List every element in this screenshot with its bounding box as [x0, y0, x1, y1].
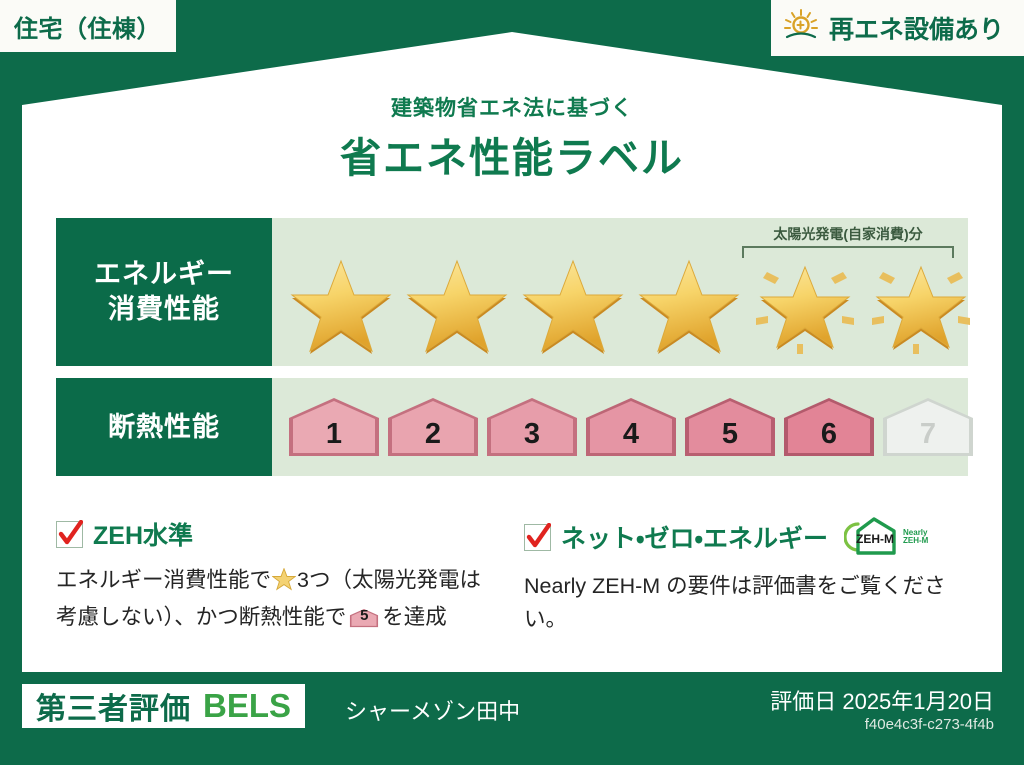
page-title: 省エネ性能ラベル — [0, 124, 1024, 184]
insulation-grade-5: 5 — [682, 396, 778, 458]
star-icon-solar — [866, 256, 976, 360]
property-name: シャーメゾン田中 — [345, 694, 520, 726]
insulation-grade-scale: 1 2 3 — [272, 378, 968, 476]
zeh-standard-title: ZEH水準 — [93, 516, 193, 552]
zeh-standard-header: ZEH水準 — [56, 516, 486, 552]
grade-number: 6 — [781, 418, 877, 451]
net-zero-energy-block: ネット・ゼロ・エネルギー ZEH-M Nearly ZEH-M Nearly Z… — [524, 516, 976, 635]
zeh-standard-block: ZEH水準 エネルギー消費性能で3つ（太陽光発電は考慮しない）、かつ断熱性能で5… — [56, 516, 486, 633]
grade-number: 4 — [583, 418, 679, 451]
insulation-grade-3: 3 — [484, 396, 580, 458]
solar-sun-icon — [781, 6, 821, 51]
evaluation-id: f40e4c3f-c273-4f4b — [865, 716, 994, 733]
star-rating — [272, 256, 968, 360]
grade-number: 2 — [385, 418, 481, 451]
insulation-grade-1: 1 — [286, 396, 382, 458]
dwelling-type-badge: 住宅（住棟） — [0, 0, 176, 52]
insulation-grade-2: 2 — [385, 396, 481, 458]
dwelling-type-label: 住宅（住棟） — [14, 9, 161, 44]
energy-rating-area: 太陽光発電(自家消費)分 — [272, 218, 968, 366]
insulation-grade-6: 6 — [781, 396, 877, 458]
star-icon — [402, 256, 512, 360]
insulation-performance-label: 断熱性能 — [56, 378, 272, 476]
zeh-m-logo-caption: Nearly ZEH-M — [903, 529, 928, 546]
energy-performance-label: 住宅（住棟） 再エネ設備あり 建築物省エネ法に基づく — [0, 0, 1024, 765]
zeh-m-house-icon: ZEH-M — [844, 516, 900, 558]
zeh-m-logo: ZEH-M Nearly ZEH-M — [844, 516, 928, 558]
zeh-standard-text-1: エネルギー消費性能で — [56, 568, 271, 592]
renewable-equipment-label: 再エネ設備あり — [829, 10, 1004, 46]
third-party-evaluation-label: 第三者評価 — [36, 684, 191, 728]
energy-label-line2: 消費性能 — [108, 292, 220, 327]
insulation-grade-area: 1 2 3 — [272, 378, 968, 476]
insulation-grade-4: 4 — [583, 396, 679, 458]
grade-number: 1 — [286, 418, 382, 451]
renewable-equipment-badge: 再エネ設備あり — [771, 0, 1024, 56]
net-zero-energy-description: Nearly ZEH-M の要件は評価書をご覧ください。 — [524, 570, 976, 635]
label-subtitle: 建築物省エネ法に基づく — [0, 92, 1024, 122]
zeh-standard-text-3: を達成 — [382, 605, 447, 629]
star-icon — [634, 256, 744, 360]
net-zero-energy-title: ネット・ゼロ・エネルギー — [561, 519, 828, 555]
star-icon-solar — [750, 256, 860, 360]
grade-number: 5 — [682, 418, 778, 451]
zeh-standard-checkbox[interactable] — [56, 521, 83, 548]
insulation-grade-inline: 5 — [349, 607, 379, 629]
net-zero-energy-header: ネット・ゼロ・エネルギー ZEH-M Nearly ZEH-M — [524, 516, 976, 558]
grade-number: 3 — [484, 418, 580, 451]
footer: 第三者評価 BELS シャーメゾン田中 評価日 2025年1月20日 f40e4… — [0, 672, 1024, 765]
solar-contribution-caption: 太陽光発電(自家消費)分 — [738, 224, 958, 244]
zeh-standard-description: エネルギー消費性能で3つ（太陽光発電は考慮しない）、かつ断熱性能で5を達成 — [56, 564, 486, 633]
insulation-performance-row: 断熱性能 1 2 — [56, 378, 968, 476]
grade-number: 7 — [880, 418, 976, 451]
grade-number-inline: 5 — [349, 605, 379, 628]
energy-consumption-row: エネルギー 消費性能 太陽光発電(自家消費)分 — [56, 218, 968, 366]
insulation-grade-7: 7 — [880, 396, 976, 458]
bels-logo-text: BELS — [203, 687, 291, 725]
evaluation-date: 評価日 2025年1月20日 — [770, 684, 994, 716]
net-zero-energy-checkbox[interactable] — [524, 524, 551, 551]
svg-text:ZEH-M: ZEH-M — [856, 532, 894, 546]
star-icon — [518, 256, 628, 360]
star-icon — [286, 256, 396, 360]
insulation-label-text: 断熱性能 — [108, 410, 220, 445]
star-icon-inline — [272, 568, 296, 601]
bels-certification-plate: 第三者評価 BELS — [22, 684, 305, 728]
energy-label-line1: エネルギー — [94, 257, 234, 292]
zeh-m-caption-line2: ZEH-M — [903, 537, 928, 545]
energy-consumption-label: エネルギー 消費性能 — [56, 218, 272, 366]
